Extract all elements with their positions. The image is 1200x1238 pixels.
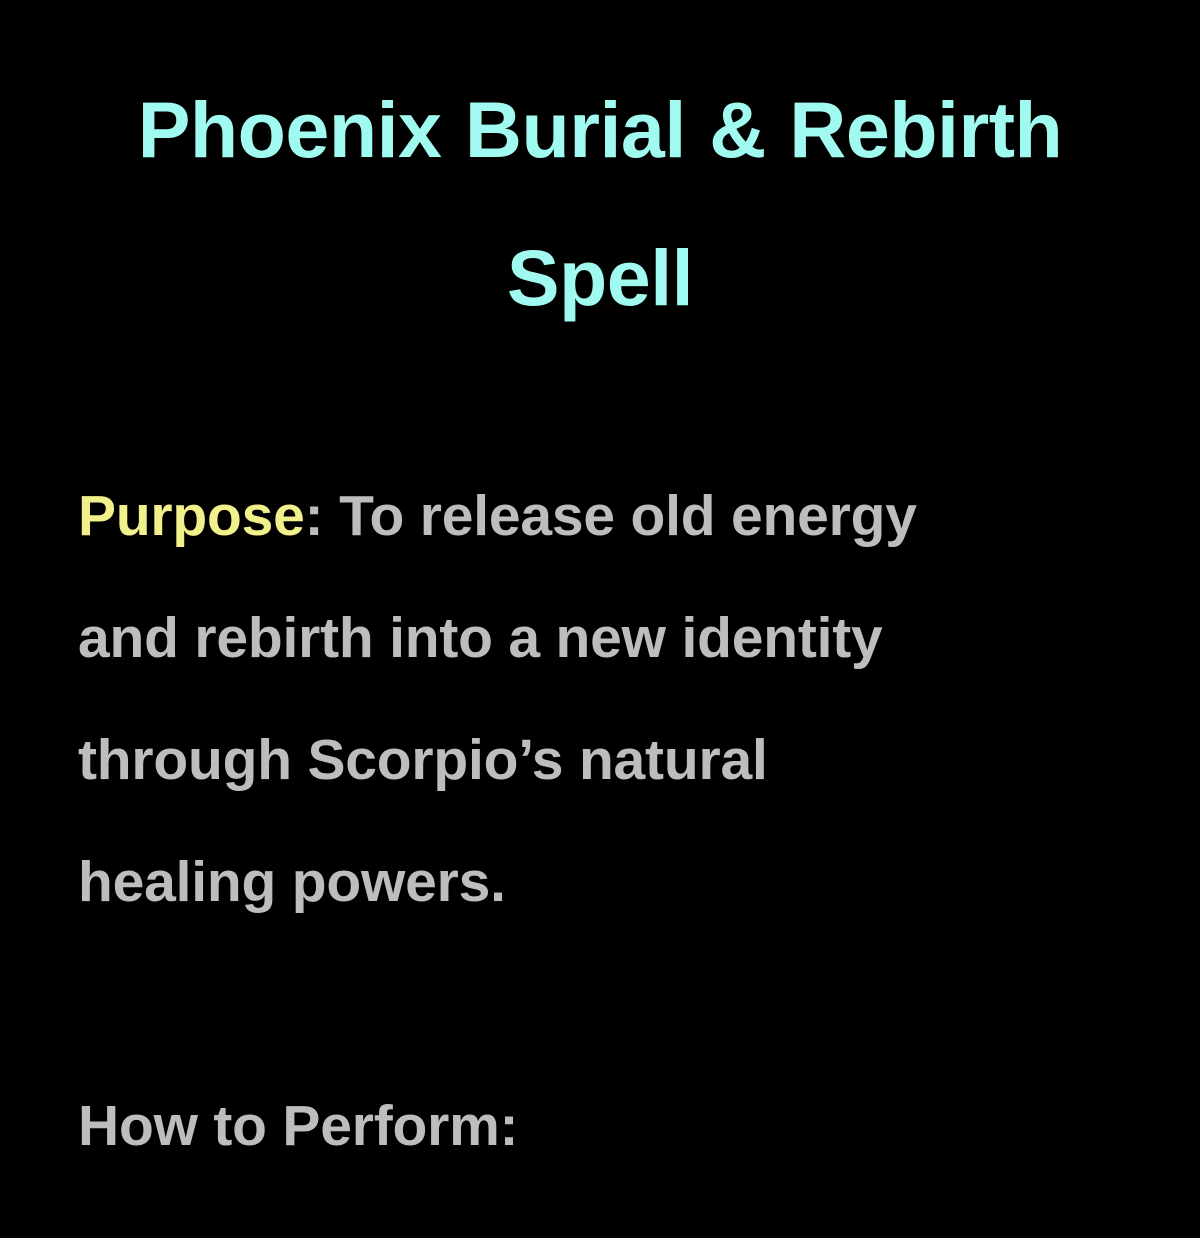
body-line-4: healing powers.	[78, 821, 1118, 943]
body-line-spacer	[78, 943, 1118, 1065]
purpose-colon: :	[305, 484, 324, 548]
body-line-1-text: To release old energy	[323, 484, 916, 548]
body-heading-how-to-perform: How to Perform:	[78, 1065, 1118, 1187]
body-content: Purpose: To release old energy and rebir…	[78, 455, 1118, 1187]
page-title: Phoenix Burial & Rebirth Spell	[0, 56, 1200, 352]
page-title-text: Phoenix Burial & Rebirth Spell	[70, 56, 1130, 352]
body-line-purpose: Purpose: To release old energy	[78, 455, 1118, 577]
body-line-3: through Scorpio’s natural	[78, 699, 1118, 821]
purpose-label: Purpose	[78, 484, 305, 548]
slide-canvas: Phoenix Burial & Rebirth Spell Purpose: …	[0, 0, 1200, 1238]
body-line-2: and rebirth into a new identity	[78, 577, 1118, 699]
